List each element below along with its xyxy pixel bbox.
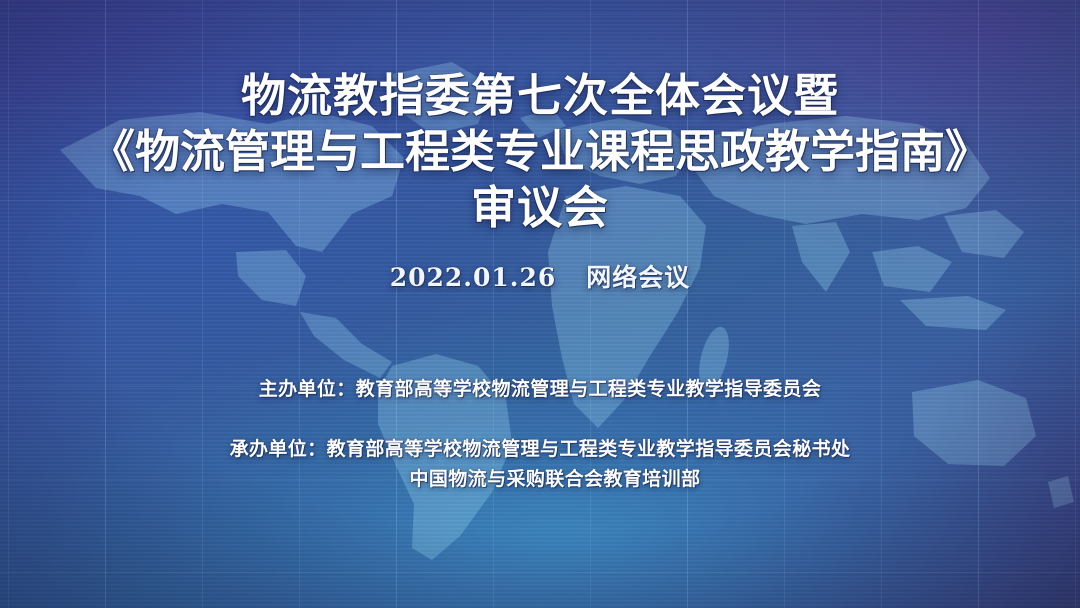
title-line-3: 审议会 [0, 180, 1080, 236]
page-title: 物流教指委第七次全体会议暨 《物流管理与工程类专业课程思政教学指南》 审议会 [0, 68, 1080, 236]
title-line-2: 《物流管理与工程类专业课程思政教学指南》 [0, 124, 1080, 180]
meeting-mode: 网络会议 [586, 263, 690, 292]
co-organizer-name-2: 中国物流与采购联合会教育培训部 [0, 464, 1080, 494]
conference-title-slide: 物流教指委第七次全体会议暨 《物流管理与工程类专业课程思政教学指南》 审议会 2… [0, 0, 1080, 608]
host-organizer-row: 主办单位：教育部高等学校物流管理与工程类专业教学指导委员会 [0, 374, 1080, 404]
meeting-meta: 2022.01.26网络会议 [390, 258, 691, 294]
organizers: 主办单位：教育部高等学校物流管理与工程类专业教学指导委员会 承办单位：教育部高等… [0, 374, 1080, 494]
host-organizer-name: 教育部高等学校物流管理与工程类专业教学指导委员会 [356, 378, 822, 400]
co-organizer-label: 承办单位： [230, 438, 327, 460]
co-organizer-row: 承办单位：教育部高等学校物流管理与工程类专业教学指导委员会秘书处 中国物流与采购… [0, 434, 1080, 494]
co-organizer-name-1: 教育部高等学校物流管理与工程类专业教学指导委员会秘书处 [327, 438, 851, 460]
title-line-1: 物流教指委第七次全体会议暨 [0, 68, 1080, 124]
meeting-date: 2022.01.26 [390, 263, 557, 292]
host-organizer-label: 主办单位： [259, 378, 356, 400]
poster-content: 物流教指委第七次全体会议暨 《物流管理与工程类专业课程思政教学指南》 审议会 2… [0, 0, 1080, 608]
